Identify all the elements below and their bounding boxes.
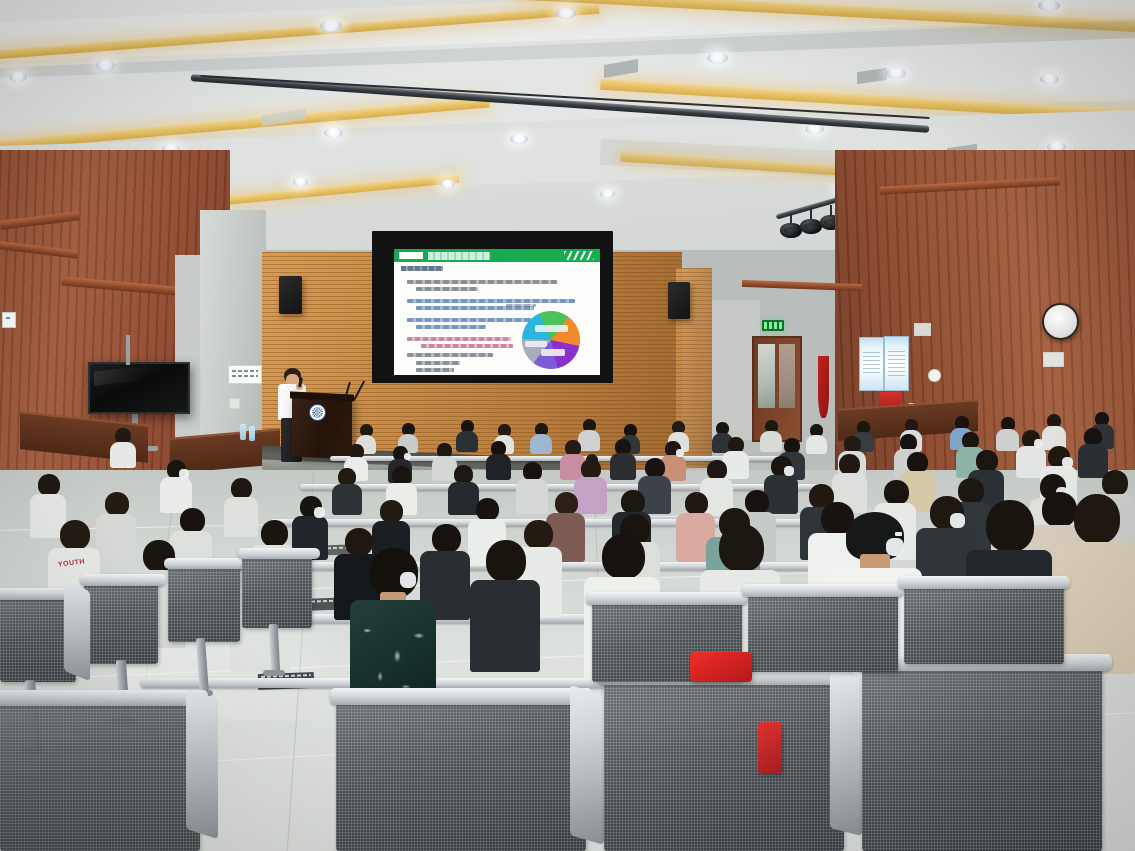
- seat-armrest[interactable]: [830, 668, 862, 836]
- pie-segment-gray: [522, 311, 580, 369]
- slide-bullet: [416, 287, 478, 291]
- audience-member: [456, 420, 478, 450]
- auditorium-photo: YOUTH: [0, 0, 1135, 851]
- downlight-icon: [96, 60, 115, 71]
- seat[interactable]: [84, 582, 158, 664]
- seat-foreground[interactable]: [604, 682, 844, 851]
- wall-socket: [1043, 352, 1064, 367]
- water-bottle: [249, 426, 255, 441]
- wall-notice-small: [2, 312, 16, 328]
- podium-emblem: [309, 404, 326, 421]
- downlight-icon: [1038, 0, 1060, 11]
- downlight-icon: [320, 20, 342, 32]
- downlight-icon: [600, 190, 615, 198]
- seat-foreground[interactable]: [0, 700, 200, 851]
- pillar-switch-plate: [229, 398, 240, 409]
- exit-sign: [762, 320, 784, 331]
- slide-bullet: [416, 361, 460, 365]
- wall-loudspeaker: [279, 276, 302, 314]
- pie-label-top: [535, 325, 568, 332]
- seat-armrest[interactable]: [186, 689, 218, 839]
- flat-screen-monitor: [88, 362, 190, 414]
- downlight-icon: [805, 124, 824, 134]
- slide-header-bar: [394, 249, 600, 262]
- red-jacket-on-seat: [758, 722, 782, 774]
- downlight-icon: [324, 128, 343, 138]
- wall-light: [928, 369, 941, 382]
- pie-label-left: [525, 341, 547, 347]
- downlight-icon: [556, 8, 576, 19]
- seat-mid[interactable]: [748, 592, 898, 672]
- pillar-notice-sign: [228, 365, 262, 384]
- seat[interactable]: [168, 566, 240, 642]
- downlight-icon: [510, 134, 528, 144]
- seat-armrest[interactable]: [570, 685, 604, 845]
- audience-member: [610, 439, 636, 478]
- audience-member: [160, 460, 192, 510]
- pie-caption: [506, 304, 536, 307]
- floral-shirt: [350, 600, 436, 702]
- wall-socket: [914, 323, 931, 336]
- slide-bullet: [421, 344, 513, 348]
- presentation-slide: [394, 249, 600, 375]
- seat-mid[interactable]: [904, 584, 1064, 664]
- downlight-icon: [886, 68, 906, 79]
- downlight-icon: [293, 178, 308, 186]
- slide-bullet: [416, 368, 454, 372]
- seat-foreground[interactable]: [336, 700, 586, 851]
- monitor-arm: [126, 335, 130, 365]
- seat-armrest[interactable]: [64, 581, 90, 682]
- slide-bullet: [407, 280, 557, 284]
- audience-member: [516, 462, 548, 511]
- audience-member: [486, 441, 511, 478]
- info-poster: [859, 337, 884, 391]
- seat[interactable]: [242, 556, 312, 628]
- audience-member: [110, 428, 136, 466]
- audience-member: [1078, 428, 1108, 476]
- slide-subtitle: [401, 266, 443, 271]
- slide-bullet: [407, 299, 575, 303]
- downlight-icon: [9, 72, 27, 82]
- audience-member: [470, 540, 540, 668]
- wall-clock: [1042, 303, 1079, 340]
- red-jacket-on-seat: [690, 652, 752, 682]
- audience-member: [530, 423, 552, 452]
- downlight-icon: [1040, 74, 1059, 84]
- projection-screen-frame: [372, 231, 613, 383]
- slide-header-title: [428, 252, 490, 260]
- slide-bullet: [407, 337, 511, 341]
- slide-header-tag: [399, 252, 423, 259]
- slide-header-stripes: [564, 251, 594, 260]
- downlight-icon: [440, 180, 455, 188]
- water-bottle: [240, 424, 246, 440]
- audience-member-floral: [350, 548, 436, 698]
- info-poster: [884, 336, 909, 391]
- red-banner-flag: [818, 356, 829, 418]
- seat-foreground[interactable]: [862, 668, 1102, 851]
- audience-member: [806, 424, 827, 452]
- slide-bullet: [416, 325, 486, 329]
- downlight-icon: [707, 52, 728, 64]
- slide-bullet: [407, 353, 493, 357]
- audience-member: [332, 468, 362, 512]
- wall-loudspeaker: [668, 282, 690, 319]
- slide-bullet: [407, 318, 539, 322]
- slide-pie-chart: [522, 311, 580, 369]
- pie-label-bottom: [541, 349, 565, 356]
